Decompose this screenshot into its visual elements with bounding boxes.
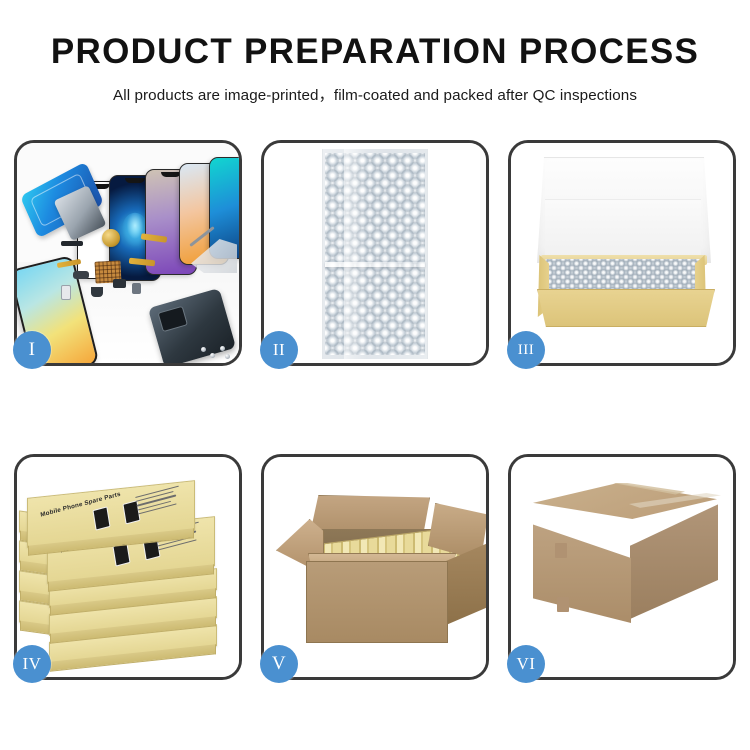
loud-speaker-part [91, 287, 103, 297]
box-label-phone-icon-1 [93, 507, 111, 531]
process-step-panel-4[interactable]: Mobile Phone Spare Parts [14, 454, 242, 680]
stacked-boxes-scene: Mobile Phone Spare Parts [17, 457, 239, 677]
step-badge-2: II [260, 331, 298, 369]
process-step-panel-5[interactable]: V [261, 454, 489, 680]
bubble-wrapped-product [545, 259, 703, 291]
page-header: PRODUCT PREPARATION PROCESS All products… [0, 0, 750, 105]
vibration-motor-part [102, 229, 120, 247]
carton-front-panel [306, 561, 448, 643]
connector-part [113, 279, 126, 288]
step-2-image [264, 143, 486, 363]
box-foam-liner [545, 199, 701, 262]
process-step-panel-2[interactable]: II [261, 140, 489, 366]
battery-connector-part [132, 283, 141, 294]
carton-marking-2 [557, 597, 569, 612]
box-stack: Mobile Phone Spare Parts [19, 463, 239, 675]
step-badge-4: IV [13, 645, 51, 683]
bubble-pattern [325, 153, 425, 355]
step-6-image [511, 457, 733, 677]
page-subtitle: All products are image-printed，film-coat… [0, 83, 750, 105]
step-badge-5: V [260, 645, 298, 683]
earpiece-speaker-part [61, 241, 83, 246]
process-step-panel-6[interactable]: VI [508, 454, 736, 680]
process-step-panel-3[interactable]: III [508, 140, 736, 366]
bubble-wrap-pouch [322, 149, 428, 359]
step-badge-3: III [507, 331, 545, 369]
phone-parts-scene [17, 143, 239, 363]
sealed-carton-scene [511, 457, 733, 677]
open-carton-scene [264, 457, 486, 677]
step-5-image [264, 457, 486, 677]
process-step-panel-1[interactable]: I [14, 140, 242, 366]
stacked-box-labeled-1: Mobile Phone Spare Parts [27, 480, 195, 548]
open-inner-box-scene [511, 143, 733, 363]
pouch-seam [325, 262, 425, 267]
bubble-wrap-scene [264, 143, 486, 363]
box-front-panel [537, 289, 715, 327]
step-4-image: Mobile Phone Spare Parts [17, 457, 239, 677]
pouch-highlight [344, 149, 367, 359]
page-title: PRODUCT PREPARATION PROCESS [0, 34, 750, 71]
sealed-carton-front [533, 511, 631, 623]
step-3-image [511, 143, 733, 363]
carton-marking-1 [555, 543, 567, 558]
step-1-image [17, 143, 239, 363]
sim-tray-part [61, 285, 71, 300]
box-label-spec-lines-1 [135, 485, 183, 522]
camera-module-part [73, 271, 89, 279]
step-badge-1: I [13, 331, 51, 369]
step-badge-6: VI [507, 645, 545, 683]
screws-group [201, 345, 231, 359]
process-steps-grid: I II III [14, 140, 736, 680]
